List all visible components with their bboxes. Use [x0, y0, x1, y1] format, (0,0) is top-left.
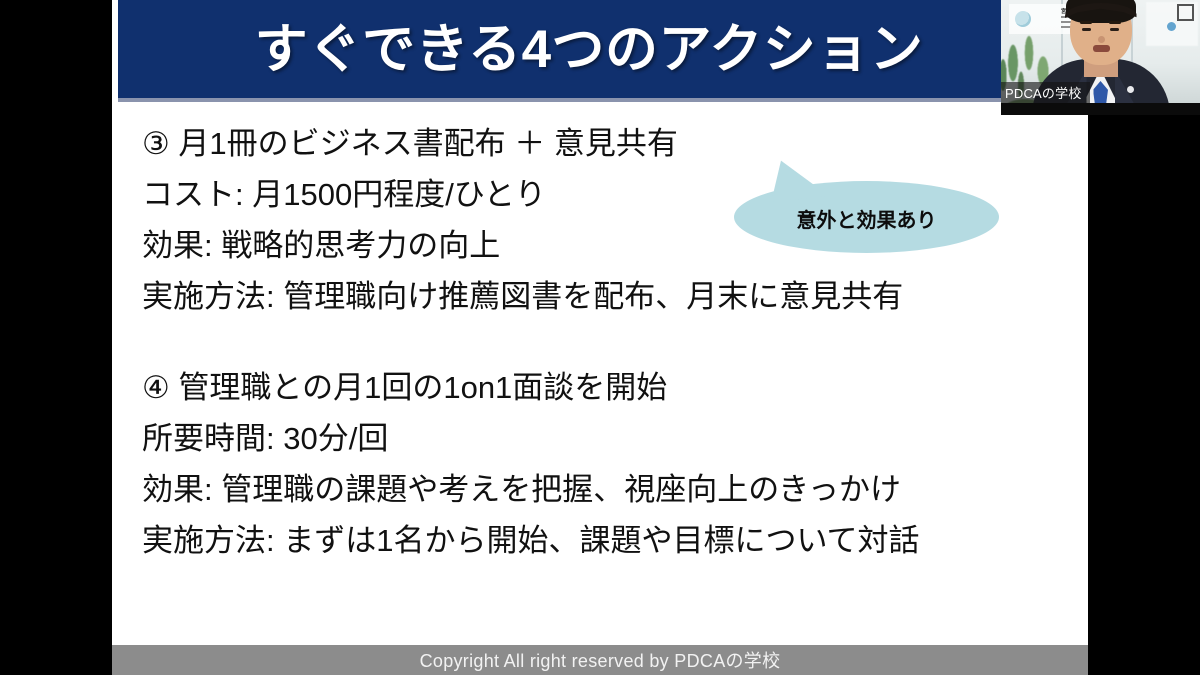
section-spacer [142, 322, 1072, 362]
webcam-video-tile[interactable]: 宮地 尚貴 PDCAの学校 [1001, 0, 1200, 115]
page-title: すぐできる4つのアクション [255, 23, 924, 76]
mouth [1093, 45, 1110, 52]
section-line-effect: 効果: 管理職の課題や考えを把握、視座向上のきっかけ [142, 464, 1072, 515]
eye-right [1110, 28, 1119, 31]
screen-share-viewport: すぐできる4つのアクション ③ 月1冊のビジネス書配布 ＋ 意見共有 コスト: … [0, 0, 1200, 675]
participant-name-label: PDCAの学校 [1001, 82, 1090, 103]
slide-section-4: ④ 管理職との月1回の1on1面談を開始 所要時間: 30分/回 効果: 管理職… [142, 362, 1072, 566]
lapel-pin-icon [1127, 86, 1134, 93]
copyright-text: Copyright All right reserved by PDCAの学校 [420, 647, 781, 673]
section-heading: ③ 月1冊のビジネス書配布 ＋ 意見共有 [142, 118, 1072, 169]
section-heading: ④ 管理職との月1回の1on1面談を開始 [142, 362, 1072, 413]
slide-title-band: すぐできる4つのアクション [118, 0, 1088, 98]
nose [1098, 36, 1105, 43]
eyebrow-right [1109, 21, 1121, 24]
eyebrow-left [1080, 21, 1092, 24]
section-line-method: 実施方法: まずは1名から開始、課題や目標について対話 [142, 515, 1072, 566]
eye-left [1082, 28, 1091, 31]
section-line-duration: 所要時間: 30分/回 [142, 413, 1072, 464]
callout-bubble-label: 意外と効果あり [734, 181, 999, 253]
section-line-method: 実施方法: 管理職向け推薦図書を配布、月末に意見共有 [142, 271, 1072, 322]
webcam-bottom-strip [1001, 103, 1200, 115]
presentation-slide: すぐできる4つのアクション ③ 月1冊のビジネス書配布 ＋ 意見共有 コスト: … [112, 0, 1088, 675]
participant-name-text: PDCAの学校 [1005, 83, 1082, 102]
slide-footer-bar: Copyright All right reserved by PDCAの学校 [112, 645, 1088, 675]
callout-bubble: 意外と効果あり [734, 181, 999, 253]
